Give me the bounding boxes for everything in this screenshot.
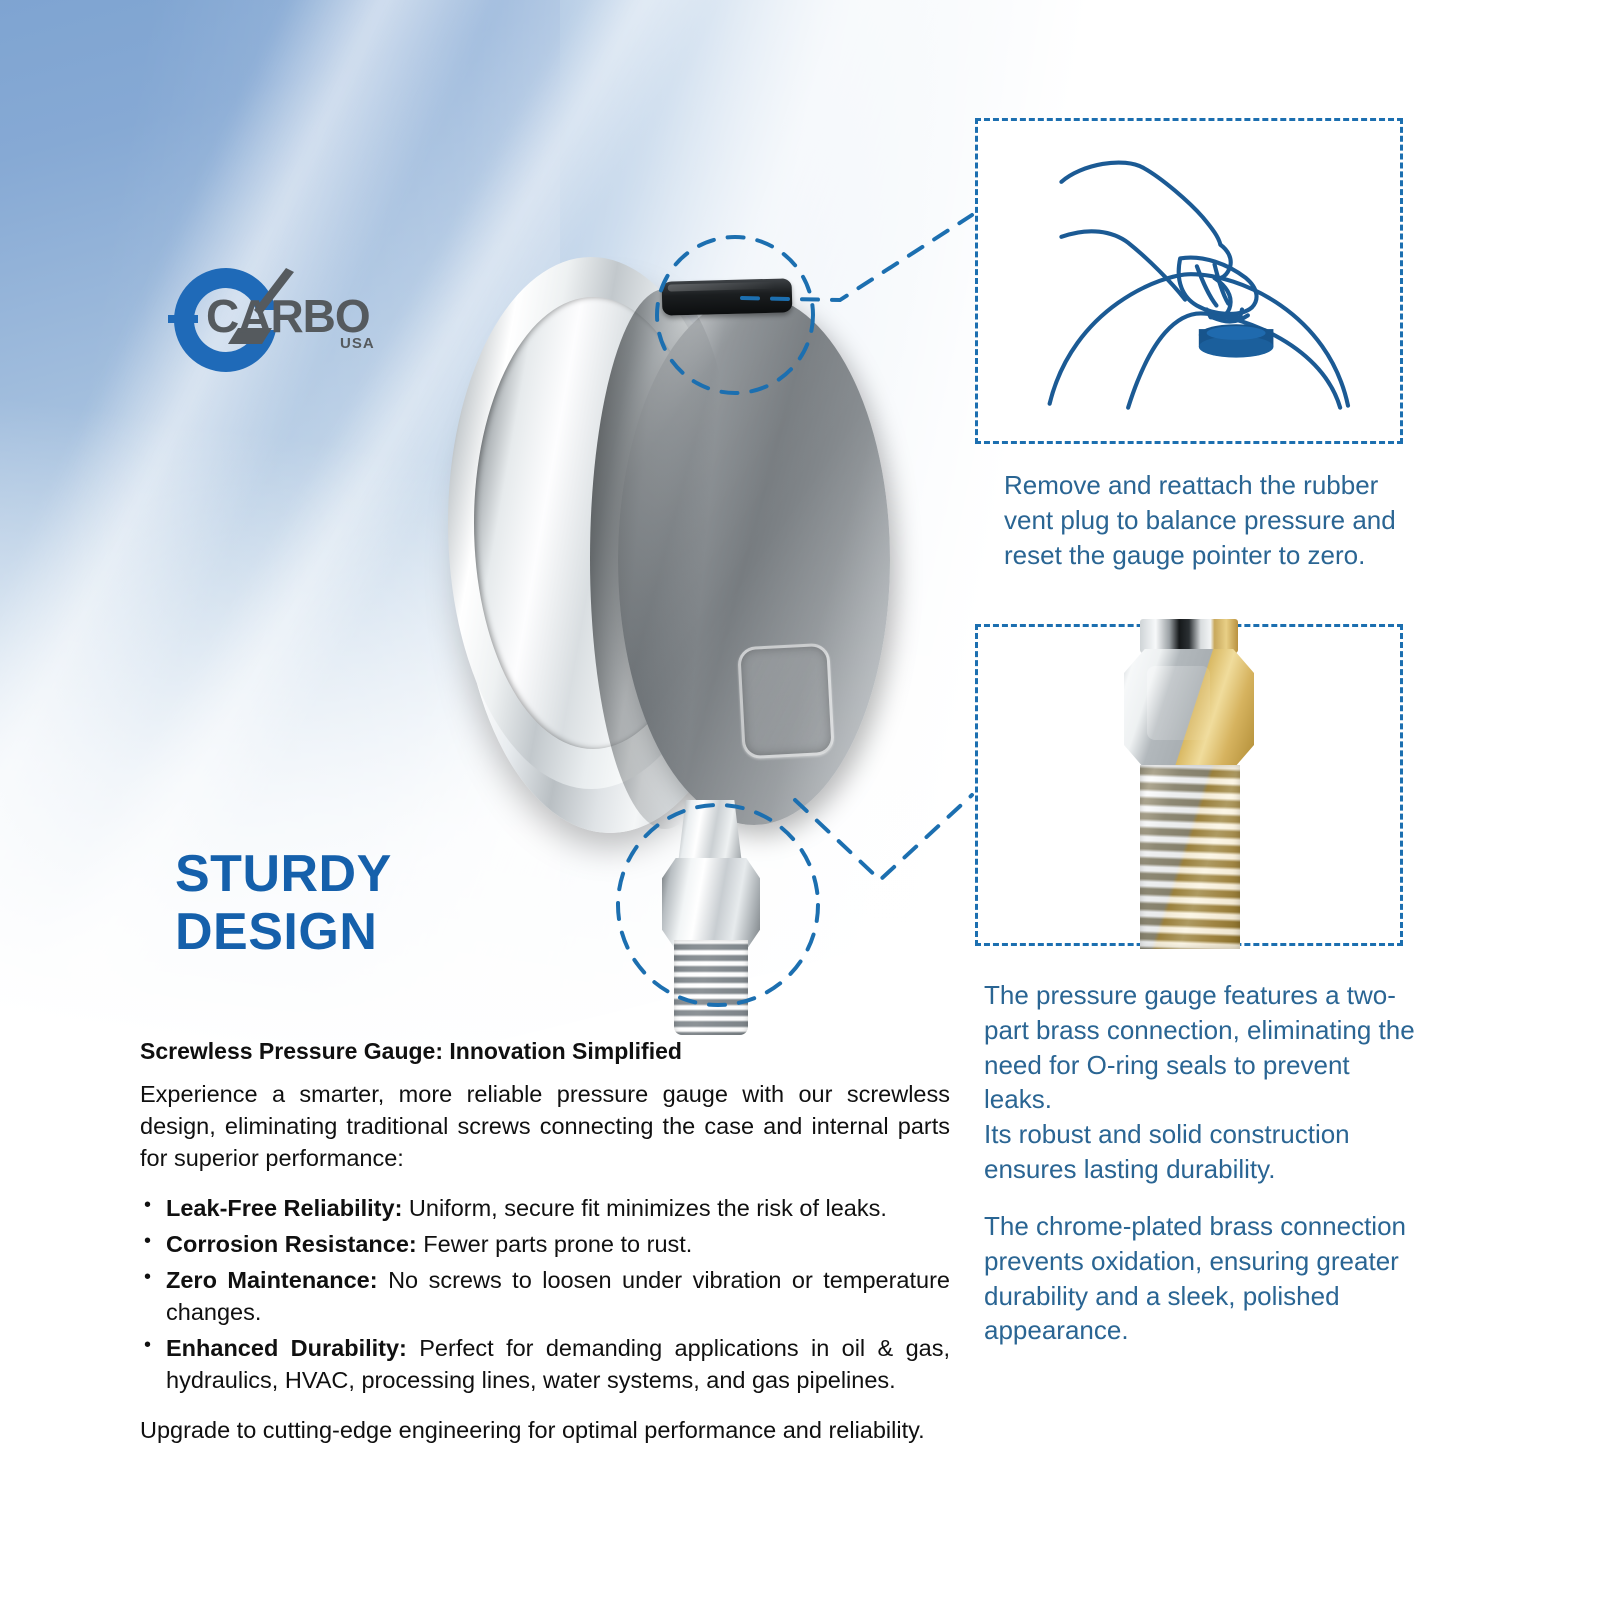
logo-sub-wordmark: USA xyxy=(340,335,375,352)
bullet-label: Leak-Free Reliability: xyxy=(166,1195,402,1221)
fitting-collar xyxy=(1140,619,1238,653)
gauge-embossed-square-panel xyxy=(737,643,835,760)
list-item: Corrosion Resistance: Fewer parts prone … xyxy=(140,1229,950,1261)
body-intro-paragraph: Experience a smarter, more reliable pres… xyxy=(140,1079,950,1175)
carbo-usa-logo: CARBO USA xyxy=(168,262,408,378)
left-body-copy: Screwless Pressure Gauge: Innovation Sim… xyxy=(140,1038,950,1447)
chrome-brass-threaded-fitting xyxy=(1094,619,1284,949)
bullet-text: Fewer parts prone to rust. xyxy=(423,1231,692,1257)
gauge-case-seam xyxy=(590,289,740,829)
connection-hex-nut xyxy=(662,858,760,950)
callout-box-brass-connection xyxy=(975,624,1403,946)
page-title-line-1: STURDY xyxy=(175,845,392,903)
body-subheading: Screwless Pressure Gauge: Innovation Sim… xyxy=(140,1038,950,1065)
vent-plug-disc xyxy=(1199,324,1274,357)
bullet-label: Zero Maintenance: xyxy=(166,1267,378,1293)
brass-caption-2: Its robust and solid construction ensure… xyxy=(984,1117,1424,1187)
vent-plug-caption: Remove and reattach the rubber vent plug… xyxy=(1004,468,1424,572)
brass-caption-3: The chrome-plated brass connection preve… xyxy=(984,1209,1424,1348)
brass-connection-captions: The pressure gauge features a two-part b… xyxy=(984,978,1424,1348)
hand-removing-vent-plug-icon xyxy=(978,121,1400,441)
callout-box-vent-plug xyxy=(975,118,1403,444)
gauge-black-rubber-vent-plug xyxy=(662,278,793,315)
list-item: Leak-Free Reliability: Uniform, secure f… xyxy=(140,1193,950,1225)
gauge-threaded-connection xyxy=(636,800,786,1035)
bullet-text: Uniform, secure fit minimizes the risk o… xyxy=(409,1195,887,1221)
bullet-label: Enhanced Durability: xyxy=(166,1335,407,1361)
fitting-hex-nut xyxy=(1124,649,1254,769)
body-outro-paragraph: Upgrade to cutting-edge engineering for … xyxy=(140,1415,950,1447)
fitting-threads xyxy=(1140,765,1240,949)
bullet-label: Corrosion Resistance: xyxy=(166,1231,417,1257)
gauge-body xyxy=(440,245,960,845)
connection-threads xyxy=(674,940,748,1035)
feature-bullet-list: Leak-Free Reliability: Uniform, secure f… xyxy=(140,1193,950,1397)
connection-neck xyxy=(678,800,742,864)
list-item: Enhanced Durability: Perfect for demandi… xyxy=(140,1333,950,1397)
list-item: Zero Maintenance: No screws to loosen un… xyxy=(140,1265,950,1329)
page-title: STURDY DESIGN xyxy=(175,845,595,961)
brass-caption-1: The pressure gauge features a two-part b… xyxy=(984,978,1424,1117)
page-title-line-2: DESIGN xyxy=(175,903,595,961)
